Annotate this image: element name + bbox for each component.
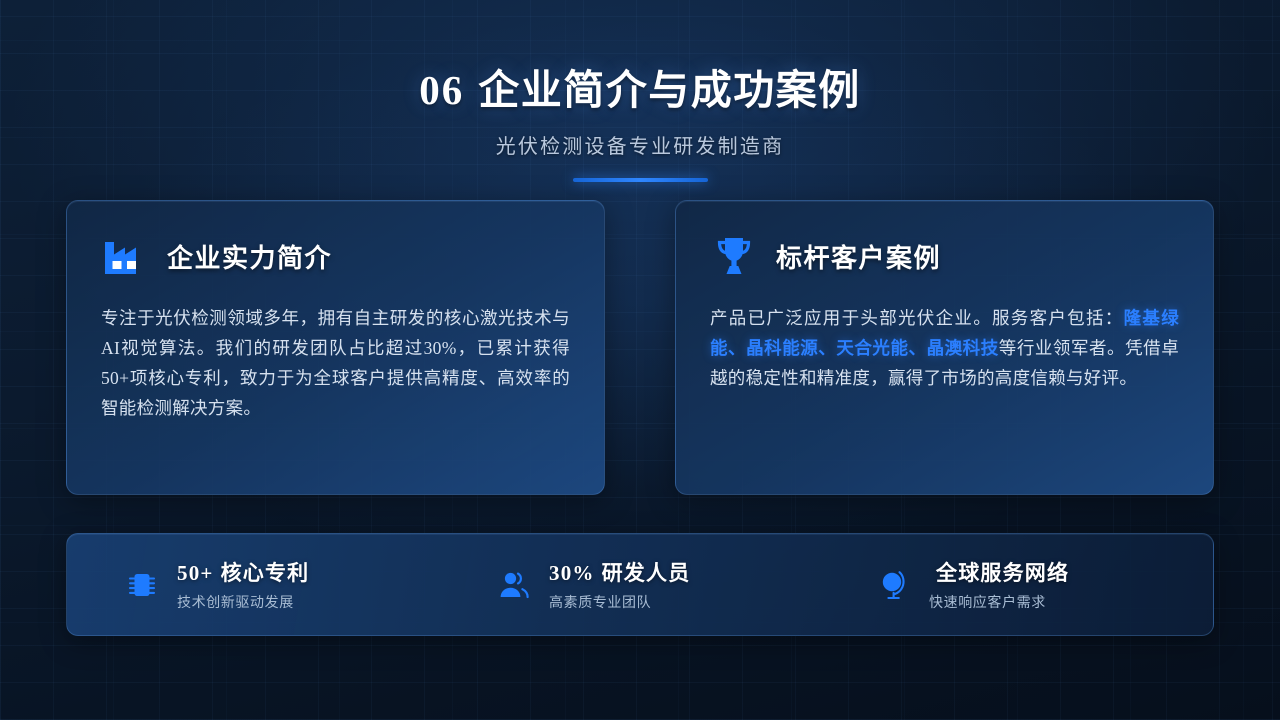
stat-label: 快速响应客户需求	[929, 592, 1069, 612]
stat-value: 全球服务网络	[929, 557, 1069, 587]
stat-name: 核心专利	[221, 561, 310, 585]
stat-name: 研发人员	[602, 561, 691, 585]
card-title: 企业实力简介	[167, 238, 332, 275]
card-header: 标杆客户案例	[710, 232, 1179, 280]
card-company-strength[interactable]: 企业实力简介 专注于光伏检测领域多年，拥有自主研发的核心激光技术与AI视觉算法。…	[66, 200, 605, 495]
stat-text: 30%研发人员 高素质专业团队	[549, 557, 690, 612]
card-body: 产品已广泛应用于头部光伏企业。服务客户包括：隆基绿能、晶科能源、天合光能、晶澳科…	[710, 303, 1179, 393]
card-body-text: 专注于光伏检测领域多年，拥有自主研发的核心激光技术与AI视觉算法。我们的研发团队…	[101, 308, 570, 418]
slide-header: 06企业简介与成功案例 光伏检测设备专业研发制造商	[0, 0, 1280, 182]
globe-icon	[877, 568, 911, 602]
page-subtitle: 光伏检测设备专业研发制造商	[0, 130, 1280, 159]
stat-bar: 50+核心专利 技术创新驱动发展 30%研发人员 高素质专业团队	[66, 533, 1214, 636]
stat-name: 全球服务网络	[936, 561, 1069, 585]
factory-icon	[101, 232, 149, 280]
card-header: 企业实力简介	[101, 232, 570, 280]
stat-item-patents[interactable]: 50+核心专利 技术创新驱动发展	[67, 557, 461, 612]
stat-text: 全球服务网络 快速响应客户需求	[929, 557, 1069, 612]
stat-number: 50+	[177, 561, 214, 585]
stat-text: 50+核心专利 技术创新驱动发展	[177, 557, 309, 612]
section-number: 06	[419, 67, 464, 113]
info-card-group: 企业实力简介 专注于光伏检测领域多年，拥有自主研发的核心激光技术与AI视觉算法。…	[66, 200, 1214, 495]
section-title: 企业简介与成功案例	[478, 67, 861, 113]
stat-label: 高素质专业团队	[549, 592, 690, 612]
stat-value: 30%研发人员	[549, 557, 690, 587]
page-title: 06企业简介与成功案例	[0, 56, 1280, 116]
card-title: 标杆客户案例	[776, 238, 941, 275]
chip-icon	[125, 568, 159, 602]
stat-label: 技术创新驱动发展	[177, 592, 309, 612]
card-body: 专注于光伏检测领域多年，拥有自主研发的核心激光技术与AI视觉算法。我们的研发团队…	[101, 303, 570, 423]
users-icon	[497, 568, 531, 602]
stat-item-rd-staff[interactable]: 30%研发人员 高素质专业团队	[461, 557, 833, 612]
card-benchmark-clients[interactable]: 标杆客户案例 产品已广泛应用于头部光伏企业。服务客户包括：隆基绿能、晶科能源、天…	[675, 200, 1214, 495]
stat-value: 50+核心专利	[177, 557, 309, 587]
accent-underline	[573, 178, 708, 182]
stat-item-global-network[interactable]: 全球服务网络 快速响应客户需求	[833, 557, 1213, 612]
trophy-icon	[710, 232, 758, 280]
card-body-text-pre: 产品已广泛应用于头部光伏企业。服务客户包括：	[710, 308, 1124, 328]
stat-number: 30%	[549, 561, 595, 585]
slide-root: 06企业简介与成功案例 光伏检测设备专业研发制造商 企业实力简介 专注于光伏检测…	[0, 0, 1280, 720]
